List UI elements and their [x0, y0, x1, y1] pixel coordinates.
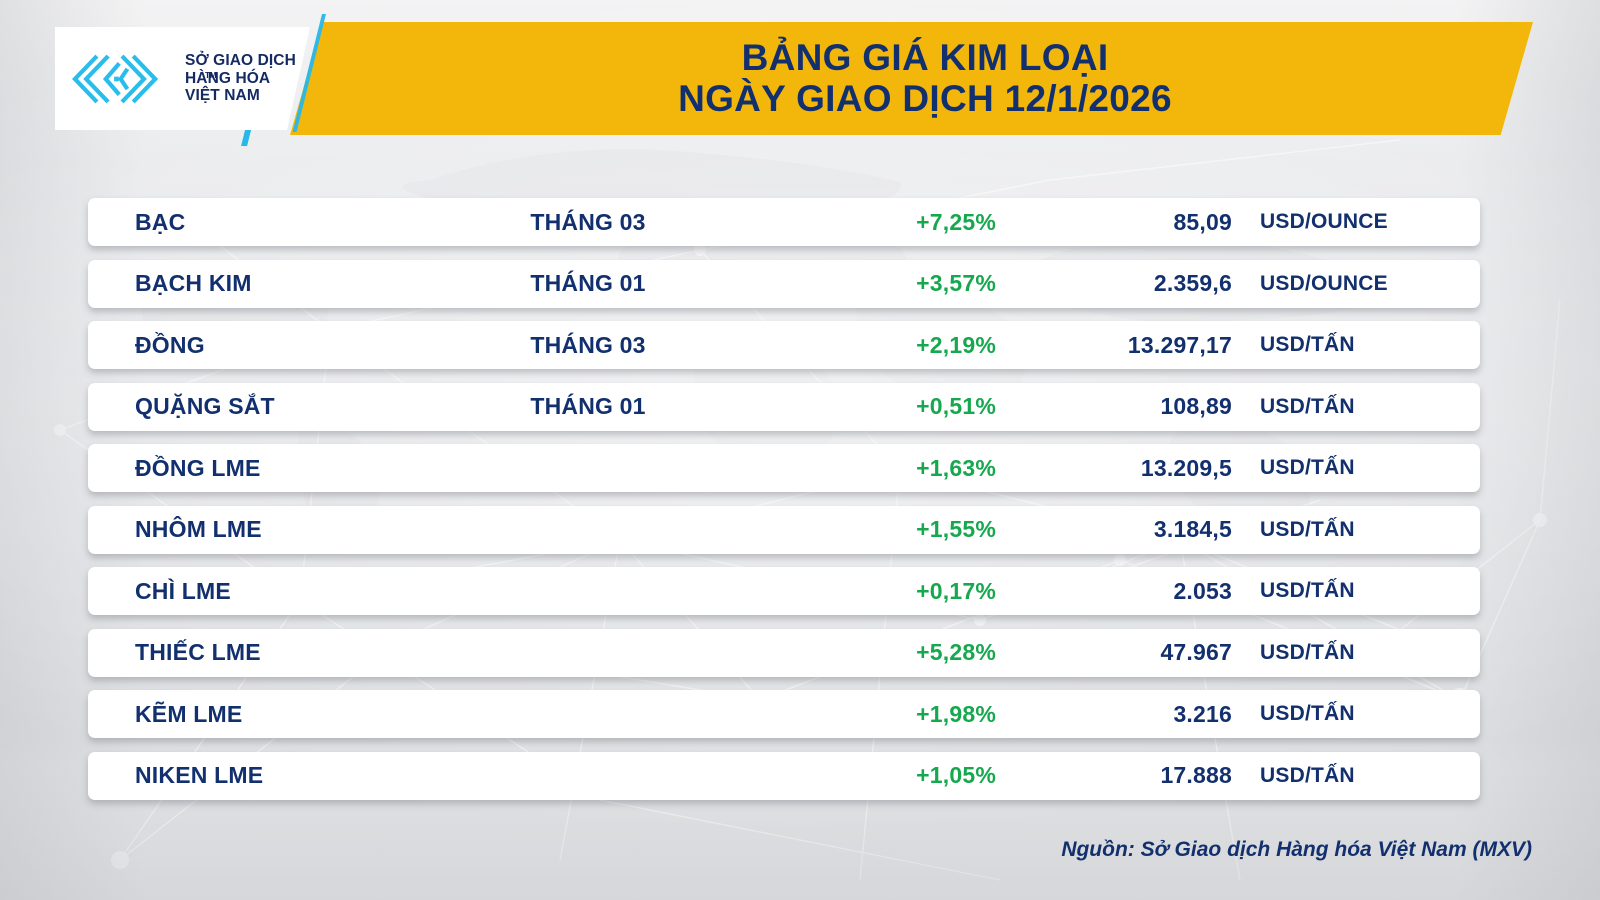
- mxv-chevron-logo-icon: [69, 51, 163, 107]
- brand-name-line-3: VIỆT NAM: [185, 87, 296, 105]
- commodity-name: ĐỒNG LME: [135, 455, 261, 482]
- price-value: 17.888: [988, 762, 1232, 789]
- price-unit: USD/TẤN: [1260, 702, 1355, 726]
- price-value: 108,89: [988, 393, 1232, 420]
- table-row[interactable]: CHÌ LME+0,17%2.053USD/TẤN: [88, 567, 1480, 615]
- contract-month: THÁNG 03: [498, 332, 678, 359]
- contract-month: THÁNG 01: [498, 270, 678, 297]
- table-row[interactable]: NHÔM LME+1,55%3.184,5USD/TẤN: [88, 506, 1480, 554]
- price-value: 2.053: [988, 578, 1232, 605]
- metal-price-table: BẠCTHÁNG 03+7,25%85,09USD/OUNCEBẠCH KIMT…: [88, 198, 1480, 813]
- price-unit: USD/OUNCE: [1260, 272, 1388, 296]
- commodity-name: KẼM LME: [135, 701, 242, 728]
- commodity-name: ĐỒNG: [135, 332, 205, 359]
- table-row[interactable]: QUẶNG SẮTTHÁNG 01+0,51%108,89USD/TẤN: [88, 383, 1480, 431]
- price-board-infographic: TM SỞ GIAO DỊCH HÀNG HÓA VIỆT NAM BẢNG G…: [0, 0, 1600, 900]
- price-value: 85,09: [988, 209, 1232, 236]
- price-value: 13.297,17: [988, 332, 1232, 359]
- price-unit: USD/TẤN: [1260, 518, 1355, 542]
- commodity-name: NIKEN LME: [135, 762, 263, 789]
- price-unit: USD/TẤN: [1260, 764, 1355, 788]
- change-percent: +1,98%: [756, 701, 996, 728]
- trademark-mark: TM: [205, 71, 217, 80]
- change-percent: +1,63%: [756, 455, 996, 482]
- table-row[interactable]: ĐỒNGTHÁNG 03+2,19%13.297,17USD/TẤN: [88, 321, 1480, 369]
- price-value: 3.216: [988, 701, 1232, 728]
- price-unit: USD/TẤN: [1260, 641, 1355, 665]
- price-value: 3.184,5: [988, 516, 1232, 543]
- brand-name: SỞ GIAO DỊCH HÀNG HÓA VIỆT NAM: [185, 52, 296, 105]
- commodity-name: CHÌ LME: [135, 578, 231, 605]
- price-unit: USD/TẤN: [1260, 579, 1355, 603]
- commodity-name: QUẶNG SẮT: [135, 393, 275, 420]
- commodity-name: THIẾC LME: [135, 639, 261, 666]
- table-row[interactable]: KẼM LME+1,98%3.216USD/TẤN: [88, 690, 1480, 738]
- page-title: BẢNG GIÁ KIM LOẠI NGÀY GIAO DỊCH 12/1/20…: [380, 27, 1470, 130]
- commodity-name: NHÔM LME: [135, 516, 262, 543]
- brand-logo-card: TM SỞ GIAO DỊCH HÀNG HÓA VIỆT NAM: [55, 27, 310, 130]
- change-percent: +2,19%: [756, 332, 996, 359]
- table-row[interactable]: BẠCH KIMTHÁNG 01+3,57%2.359,6USD/OUNCE: [88, 260, 1480, 308]
- brand-name-line-2: HÀNG HÓA: [185, 70, 296, 88]
- contract-month: THÁNG 03: [498, 209, 678, 236]
- price-unit: USD/TẤN: [1260, 395, 1355, 419]
- commodity-name: BẠCH KIM: [135, 270, 252, 297]
- brand-name-line-1: SỞ GIAO DỊCH: [185, 52, 296, 70]
- change-percent: +1,05%: [756, 762, 996, 789]
- change-percent: +7,25%: [756, 209, 996, 236]
- table-row[interactable]: THIẾC LME+5,28%47.967USD/TẤN: [88, 629, 1480, 677]
- price-value: 13.209,5: [988, 455, 1232, 482]
- change-percent: +1,55%: [756, 516, 996, 543]
- change-percent: +5,28%: [756, 639, 996, 666]
- change-percent: +0,51%: [756, 393, 996, 420]
- table-row[interactable]: NIKEN LME+1,05%17.888USD/TẤN: [88, 752, 1480, 800]
- source-attribution: Nguồn: Sở Giao dịch Hàng hóa Việt Nam (M…: [1061, 838, 1532, 862]
- table-row[interactable]: ĐỒNG LME+1,63%13.209,5USD/TẤN: [88, 444, 1480, 492]
- table-row[interactable]: BẠCTHÁNG 03+7,25%85,09USD/OUNCE: [88, 198, 1480, 246]
- price-unit: USD/TẤN: [1260, 456, 1355, 480]
- price-unit: USD/OUNCE: [1260, 210, 1388, 234]
- change-percent: +3,57%: [756, 270, 996, 297]
- price-unit: USD/TẤN: [1260, 333, 1355, 357]
- page-title-line-1: BẢNG GIÁ KIM LOẠI: [742, 38, 1109, 78]
- page-header: TM SỞ GIAO DỊCH HÀNG HÓA VIỆT NAM BẢNG G…: [0, 0, 1600, 145]
- change-percent: +0,17%: [756, 578, 996, 605]
- contract-month: THÁNG 01: [498, 393, 678, 420]
- commodity-name: BẠC: [135, 209, 185, 236]
- price-value: 2.359,6: [988, 270, 1232, 297]
- price-value: 47.967: [988, 639, 1232, 666]
- page-title-line-2: NGÀY GIAO DỊCH 12/1/2026: [678, 79, 1172, 119]
